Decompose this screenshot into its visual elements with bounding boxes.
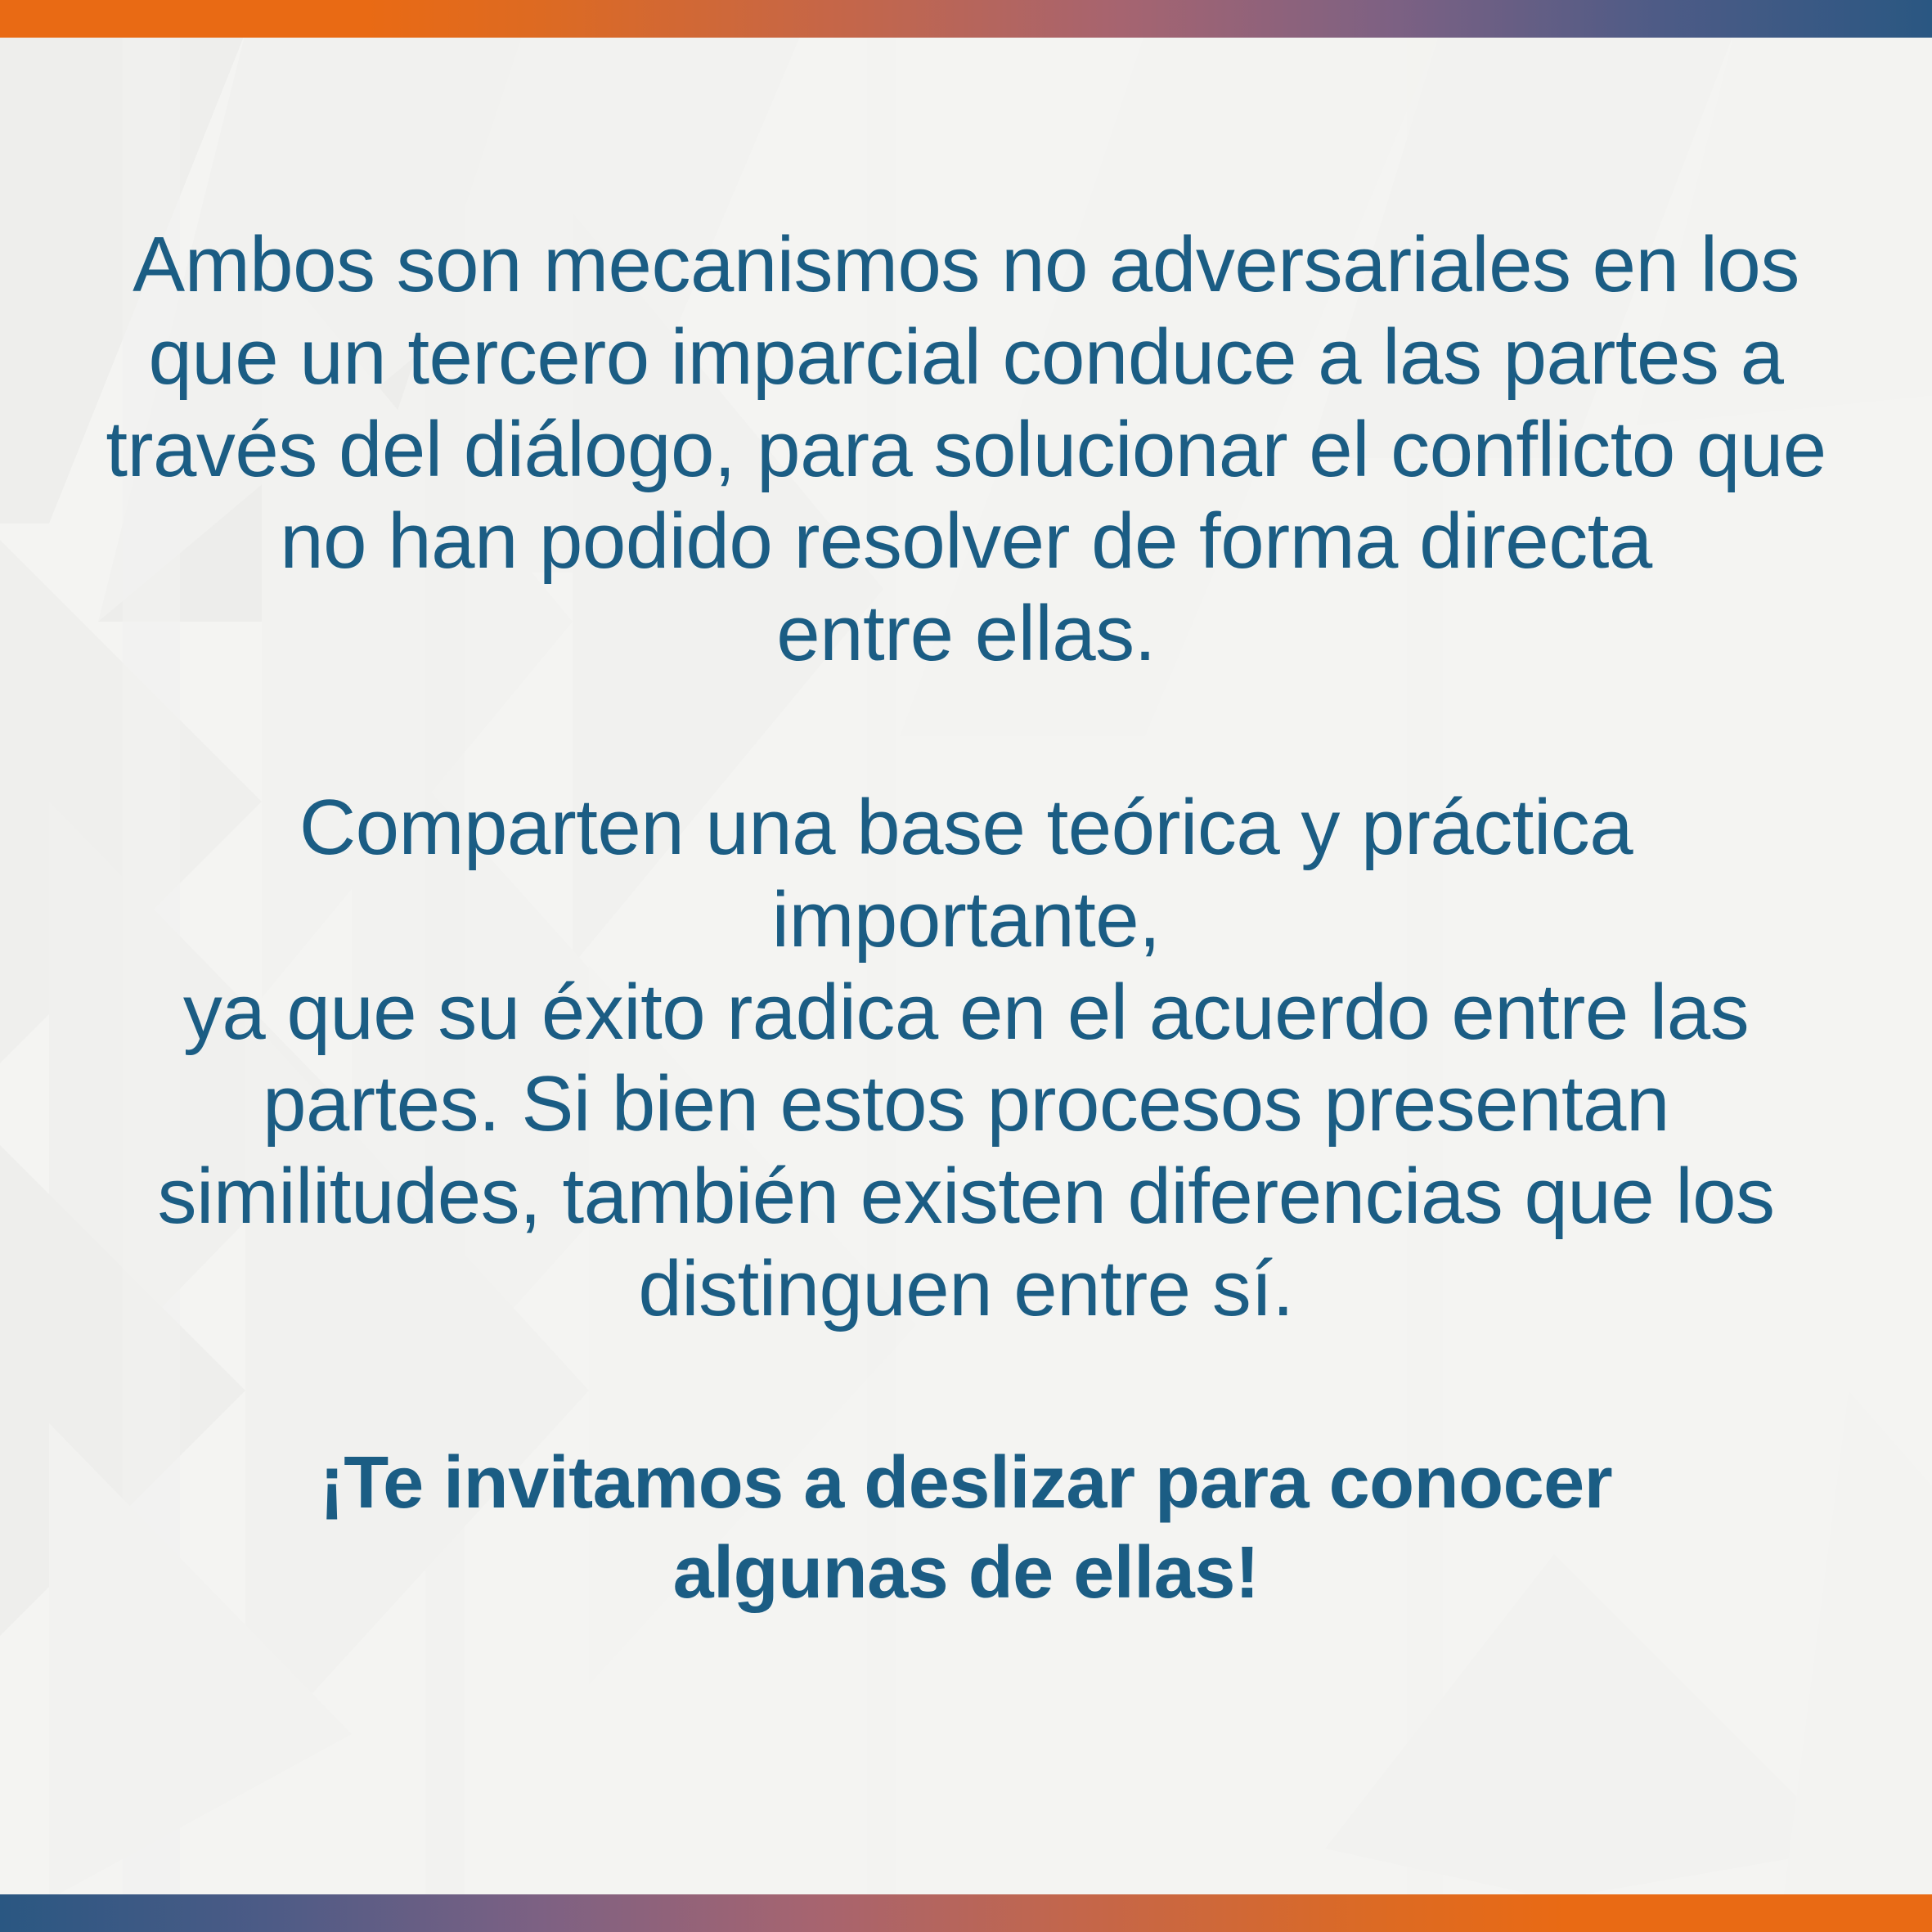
paragraph-one: Ambos son mecanismos no adversariales en… bbox=[98, 219, 1834, 681]
slide-canvas: Ambos son mecanismos no adversariales en… bbox=[0, 0, 1932, 1932]
paragraph-two: Comparten una base teórica y práctica im… bbox=[98, 782, 1834, 1336]
slide-content: Ambos son mecanismos no adversariales en… bbox=[0, 38, 1932, 1894]
top-gradient-bar bbox=[0, 0, 1932, 38]
bottom-gradient-bar bbox=[0, 1894, 1932, 1932]
text-block: Ambos son mecanismos no adversariales en… bbox=[98, 38, 1834, 1692]
call-to-action-text: ¡Te invitamos a deslizar para conocer al… bbox=[98, 1439, 1834, 1619]
